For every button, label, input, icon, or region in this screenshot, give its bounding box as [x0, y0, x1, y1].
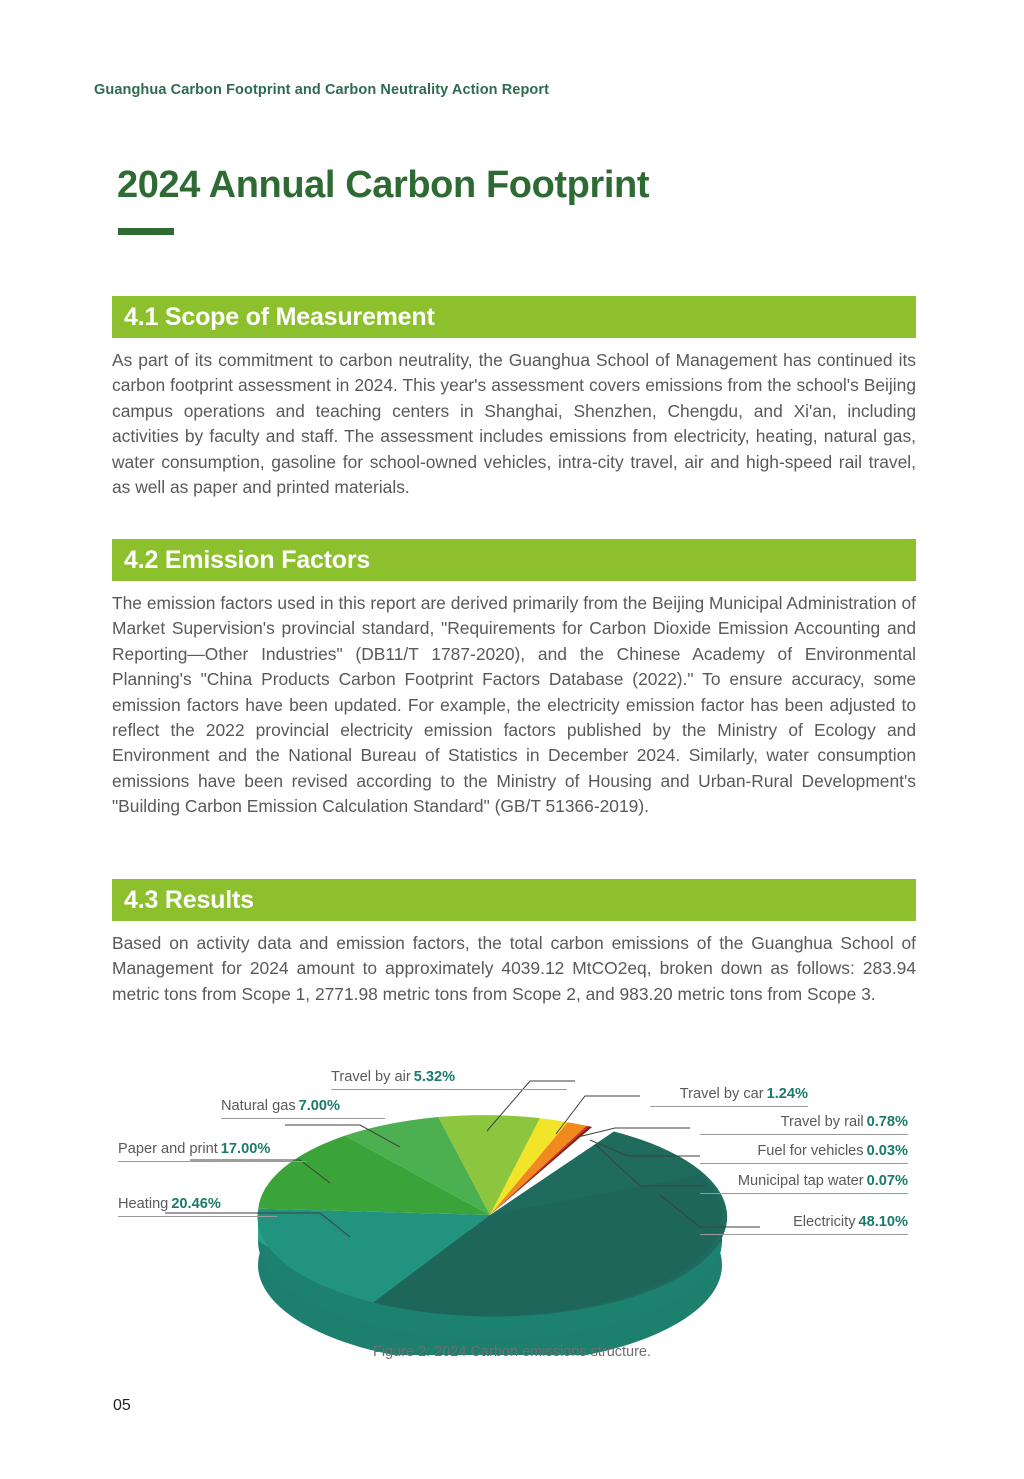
page-number: 05 — [113, 1397, 131, 1415]
callout-travel-by-air-value: 5.32% — [414, 1069, 455, 1085]
title-underline-rule — [118, 228, 174, 235]
callout-fuel-for-vehicles-value: 0.03% — [867, 1143, 908, 1159]
callout-paper-and-print: Paper and print17.00% — [118, 1140, 307, 1162]
callout-electricity-name: Electricity — [793, 1214, 855, 1230]
callout-municipal-tap-water: Municipal tap water0.07% — [700, 1172, 908, 1194]
callout-travel-by-rail: Travel by rail0.78% — [700, 1113, 908, 1135]
callout-municipal-tap-water-value: 0.07% — [867, 1173, 908, 1189]
document-page: Guanghua Carbon Footprint and Carbon Neu… — [0, 0, 1024, 1479]
callout-travel-by-car-value: 1.24% — [767, 1086, 808, 1102]
figure-caption: Figure 2: 2024 Carbon emissions structur… — [0, 1344, 1024, 1360]
page-title: 2024 Annual Carbon Footprint — [117, 164, 649, 207]
section-body-4-2: The emission factors used in this report… — [112, 591, 916, 820]
section-heading-4-1-label: 4.1 Scope of Measurement — [112, 303, 435, 332]
callout-natural-gas-name: Natural gas — [221, 1098, 296, 1114]
callout-heating-name: Heating — [118, 1196, 168, 1212]
callout-natural-gas: Natural gas7.00% — [221, 1097, 385, 1119]
callout-fuel-for-vehicles-name: Fuel for vehicles — [757, 1143, 863, 1159]
pie-top-surface — [258, 1115, 728, 1316]
callout-travel-by-rail-value: 0.78% — [867, 1114, 908, 1130]
callout-paper-and-print-name: Paper and print — [118, 1141, 218, 1157]
section-heading-4-3: 4.3 Results — [112, 879, 916, 921]
callout-electricity: Electricity48.10% — [700, 1213, 908, 1235]
callout-travel-by-car: Travel by car1.24% — [650, 1085, 808, 1107]
running-header: Guanghua Carbon Footprint and Carbon Neu… — [94, 82, 549, 98]
callout-travel-by-rail-name: Travel by rail — [781, 1114, 864, 1130]
section-body-4-3: Based on activity data and emission fact… — [112, 931, 916, 1007]
callout-travel-by-air: Travel by air5.32% — [331, 1068, 567, 1090]
section-body-4-1: As part of its commitment to carbon neut… — [112, 348, 916, 500]
callout-natural-gas-value: 7.00% — [299, 1098, 340, 1114]
callout-paper-and-print-value: 17.00% — [221, 1141, 271, 1157]
callout-heating-value: 20.46% — [171, 1196, 221, 1212]
section-heading-4-3-label: 4.3 Results — [112, 886, 254, 915]
callout-travel-by-air-name: Travel by air — [331, 1069, 411, 1085]
callout-travel-by-car-name: Travel by car — [680, 1086, 764, 1102]
section-heading-4-1: 4.1 Scope of Measurement — [112, 296, 916, 338]
callout-electricity-value: 48.10% — [859, 1214, 909, 1230]
callout-municipal-tap-water-name: Municipal tap water — [738, 1173, 864, 1189]
section-heading-4-2: 4.2 Emission Factors — [112, 539, 916, 581]
section-heading-4-2-label: 4.2 Emission Factors — [112, 546, 370, 575]
callout-heating: Heating20.46% — [118, 1195, 277, 1217]
callout-fuel-for-vehicles: Fuel for vehicles0.03% — [700, 1142, 908, 1164]
